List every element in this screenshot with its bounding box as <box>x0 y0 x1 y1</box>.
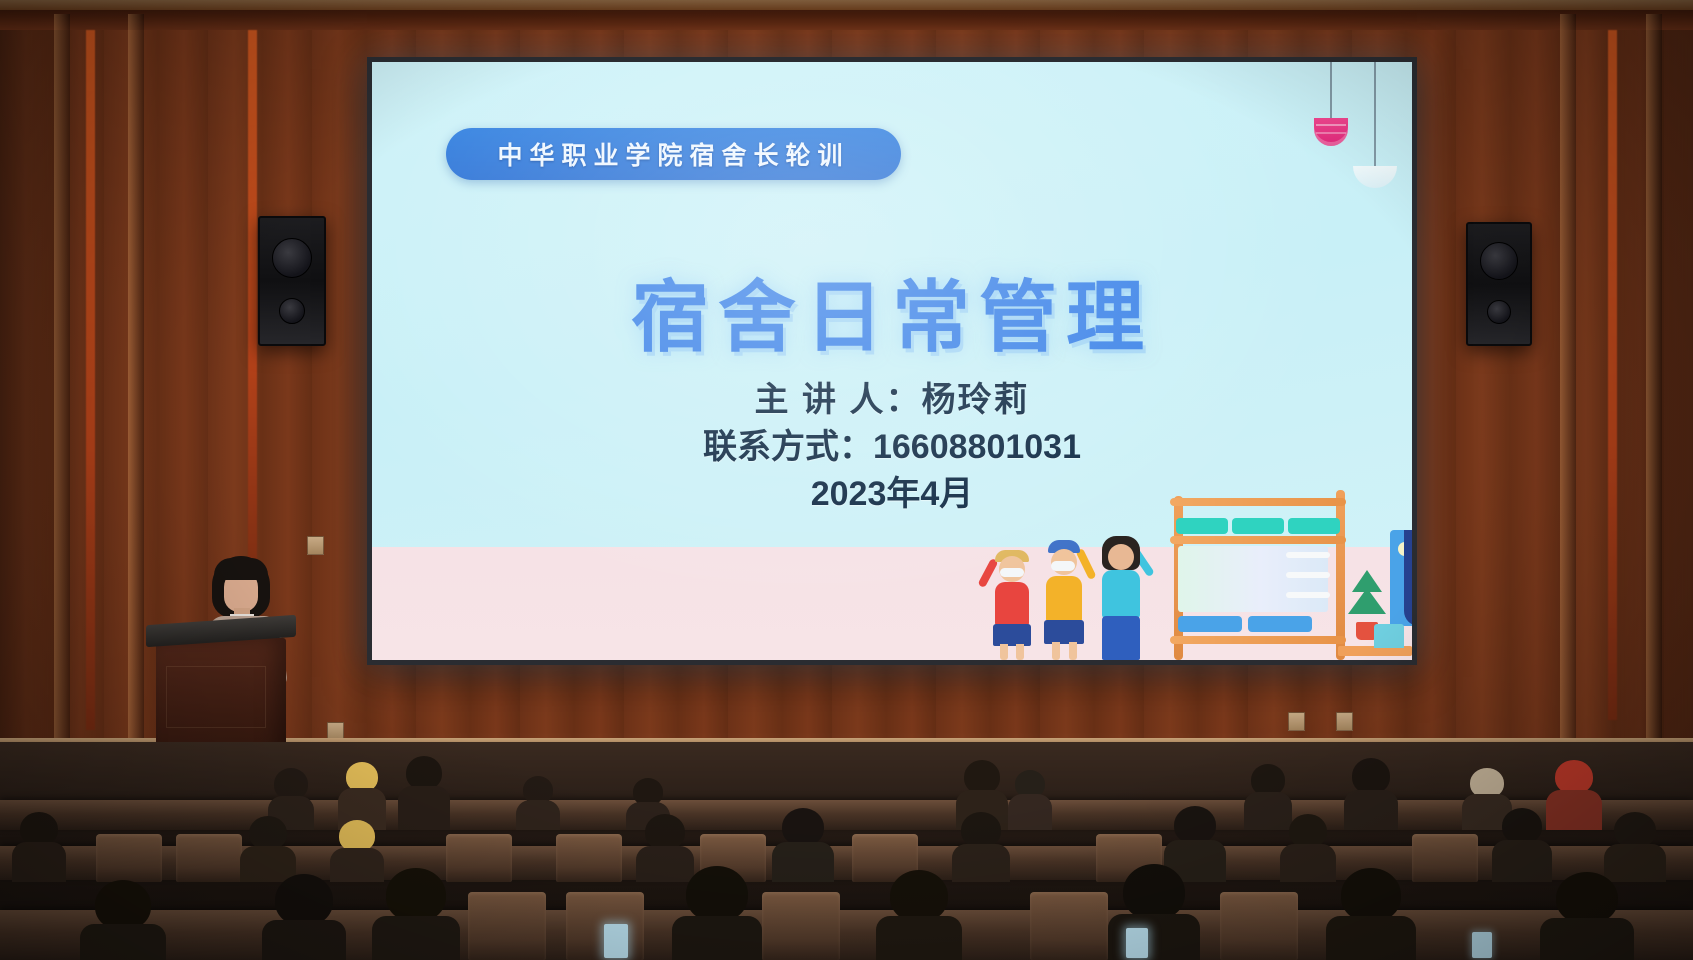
skirt <box>993 624 1031 646</box>
bunk-bottom-rail <box>1170 636 1346 644</box>
audience-person <box>672 866 762 960</box>
shoulders <box>772 842 834 882</box>
chair <box>1374 624 1404 648</box>
red-jacket <box>1555 760 1593 794</box>
shoulders <box>516 800 560 830</box>
seat-row-front <box>0 910 1693 960</box>
seat <box>1030 892 1108 960</box>
audience-area <box>0 742 1693 960</box>
presentation-slide: 中华职业学院宿舍长轮训 宿舍日常管理 主 讲 人：杨玲莉 联系方式：166088… <box>372 62 1412 660</box>
audience-person <box>12 812 66 882</box>
shoulders <box>12 842 66 882</box>
window-curtain <box>1404 530 1412 626</box>
audience-person <box>1344 758 1398 830</box>
ceiling-trim-highlight <box>0 0 1693 10</box>
shoulders <box>1326 916 1416 960</box>
head <box>1556 872 1618 924</box>
student-yellow <box>1036 540 1092 660</box>
ladder-step <box>1286 572 1330 578</box>
audience-person <box>1108 864 1200 960</box>
head <box>782 808 824 846</box>
wall-outlet-left <box>307 536 324 555</box>
shoulders <box>876 916 962 960</box>
head <box>1289 814 1327 848</box>
slide-title: 宿舍日常管理 <box>372 255 1412 367</box>
audience-person <box>1492 808 1552 882</box>
head <box>645 814 685 850</box>
speaker-right <box>1466 222 1532 346</box>
top-mattress <box>1288 518 1340 534</box>
phone-screen-glow <box>1472 932 1492 958</box>
presenter-hair-front <box>214 558 268 580</box>
leg <box>1052 642 1060 660</box>
shoulders <box>262 920 346 960</box>
shoulders <box>1108 914 1200 960</box>
seat <box>176 834 242 882</box>
head <box>386 868 446 922</box>
audience-person <box>398 756 450 830</box>
head <box>95 880 151 930</box>
head <box>1341 868 1401 922</box>
leg <box>1016 644 1024 660</box>
head <box>249 816 287 850</box>
torso <box>1102 570 1140 618</box>
head <box>275 874 333 926</box>
audience-person <box>262 874 346 960</box>
speaker-cone <box>272 238 312 278</box>
head <box>890 870 948 922</box>
speaker-cone <box>279 298 305 324</box>
bottom-mattress <box>1178 616 1242 632</box>
audience-person <box>1546 760 1602 830</box>
accent-light-strip <box>86 30 95 730</box>
wall-pilaster <box>1646 14 1662 790</box>
slide-contact-line: 联系方式：16608801031 <box>372 424 1412 471</box>
wall-outlet-right-b <box>1336 712 1353 731</box>
speaker-cone <box>1480 242 1518 280</box>
face-mask <box>1051 561 1075 571</box>
ladder-step <box>1286 592 1330 598</box>
projection-screen: 中华职业学院宿舍长轮训 宿舍日常管理 主 讲 人：杨玲莉 联系方式：166088… <box>367 57 1417 665</box>
audience-person <box>372 868 460 960</box>
top-mattress <box>1176 518 1228 534</box>
pants <box>1102 616 1140 660</box>
plant-leaf <box>1348 588 1386 614</box>
lamp-wire <box>1374 62 1376 168</box>
seat <box>468 892 546 960</box>
torso <box>1046 576 1082 622</box>
slide-banner-label: 中华职业学院宿舍长轮训 <box>497 136 849 172</box>
wall-pilaster <box>128 14 144 790</box>
bunk-top-rail <box>1170 498 1346 506</box>
audience-person <box>516 776 560 830</box>
audience-person <box>1540 872 1634 960</box>
ladder-step <box>1286 552 1330 558</box>
shoulders <box>672 916 762 960</box>
phone-screen-glow <box>604 924 628 958</box>
arm <box>977 558 998 588</box>
head <box>406 756 442 790</box>
wall-pilaster <box>54 14 70 790</box>
head <box>1123 864 1185 920</box>
audience-person <box>772 808 834 882</box>
head <box>1502 808 1542 844</box>
wall-outlet-right-a <box>1288 712 1305 731</box>
torso <box>995 582 1029 626</box>
head <box>961 812 1001 848</box>
audience-person <box>80 880 166 960</box>
accent-light-strip <box>1608 30 1617 720</box>
head <box>1614 812 1656 848</box>
head <box>1352 758 1390 794</box>
white-hanging-lamp-icon <box>1353 166 1397 188</box>
slide-banner: 中华职业学院宿舍长轮训 <box>446 128 901 180</box>
auditorium-scene: 中华职业学院宿舍长轮训 宿舍日常管理 主 讲 人：杨玲莉 联系方式：166088… <box>0 0 1693 960</box>
seat <box>1220 892 1298 960</box>
leg <box>1000 644 1008 660</box>
shoulders <box>1546 790 1602 830</box>
seat <box>96 834 162 882</box>
audience-person <box>1326 868 1416 960</box>
podium-front-panel <box>166 666 266 728</box>
audience-person <box>240 816 296 882</box>
shoulders <box>80 924 166 960</box>
leg <box>1069 642 1077 660</box>
audience-person <box>1008 770 1052 830</box>
slide-speaker-line: 主 讲 人：杨玲莉 <box>372 377 1412 424</box>
seat <box>762 892 840 960</box>
shoulders <box>1540 918 1634 960</box>
wall-pilaster <box>1560 14 1576 790</box>
bottom-mattress <box>1248 616 1312 632</box>
shoulders <box>398 786 450 830</box>
head <box>20 812 58 846</box>
head <box>1108 544 1134 570</box>
bunk-mid-rail <box>1170 536 1346 544</box>
speaker-left <box>258 216 326 346</box>
face-mask <box>1000 568 1024 577</box>
speaker-cone <box>1487 300 1511 324</box>
head <box>964 760 1000 794</box>
seat <box>556 834 622 882</box>
audience-person <box>876 870 962 960</box>
head <box>686 866 748 922</box>
skirt <box>1044 620 1084 644</box>
dormitory-illustration <box>972 470 1412 660</box>
phone-screen-glow <box>1126 928 1148 958</box>
bunk-bed <box>1170 490 1350 660</box>
pink-hanging-lamp-icon <box>1314 118 1348 146</box>
accent-light-strip <box>248 30 257 590</box>
shoulders <box>1008 794 1052 830</box>
student-cyan <box>1092 532 1150 660</box>
student-red <box>986 548 1038 660</box>
top-mattress <box>1232 518 1284 534</box>
lamp-wire <box>1330 62 1332 120</box>
head <box>1174 806 1216 844</box>
shoulders <box>372 916 460 960</box>
shoulders <box>1344 790 1398 830</box>
seat <box>1412 834 1478 882</box>
